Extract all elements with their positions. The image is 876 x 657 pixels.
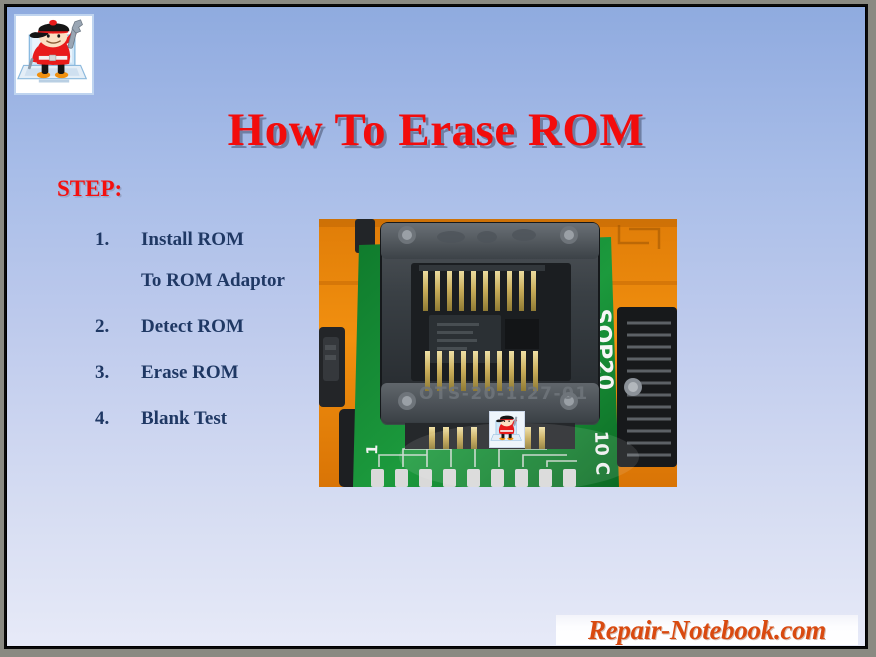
slide-canvas: How To Erase ROM STEP: 1. Install ROM To…	[7, 7, 865, 646]
rom-adaptor-photo: 1 SOP20 10 C	[319, 219, 677, 487]
step-text-col: Erase ROM	[141, 360, 345, 386]
step-section-label: STEP:	[57, 176, 122, 202]
steps-list: 1. Install ROM To ROM Adaptor 2. Detect …	[95, 227, 345, 452]
step-text-col: Blank Test	[141, 406, 345, 432]
step-text-col: Install ROM To ROM Adaptor	[141, 227, 345, 294]
slide-frame: How To Erase ROM STEP: 1. Install ROM To…	[0, 0, 876, 657]
pcb-pin-marking: 1	[363, 444, 381, 455]
socket-marking: OTS-20-1.27-01	[419, 384, 589, 404]
step-number: 2.	[95, 314, 141, 340]
step-number: 4.	[95, 406, 141, 432]
list-item: 4. Blank Test	[95, 406, 345, 432]
title-wrap: How To Erase ROM	[7, 106, 865, 155]
page-title: How To Erase ROM	[228, 106, 645, 155]
step-label: Detect ROM	[141, 314, 345, 340]
site-watermark: Repair-Notebook.com	[556, 615, 858, 645]
step-label-continued: To ROM Adaptor	[141, 268, 345, 294]
step-number: 3.	[95, 360, 141, 386]
list-item: 2. Detect ROM	[95, 314, 345, 340]
list-item: 3. Erase ROM	[95, 360, 345, 386]
step-number: 1.	[95, 227, 141, 253]
repair-notebook-logo-icon	[16, 16, 92, 93]
watermark-text: Repair-Notebook.com	[588, 615, 826, 645]
repair-notebook-logo-small	[489, 411, 525, 448]
step-label: Install ROM	[141, 227, 345, 253]
list-item: 1. Install ROM To ROM Adaptor	[95, 227, 345, 294]
step-label: Erase ROM	[141, 360, 345, 386]
repair-notebook-logo-small-icon	[490, 412, 524, 447]
repair-notebook-logo	[14, 14, 94, 95]
step-label: Blank Test	[141, 406, 345, 432]
step-text-col: Detect ROM	[141, 314, 345, 340]
